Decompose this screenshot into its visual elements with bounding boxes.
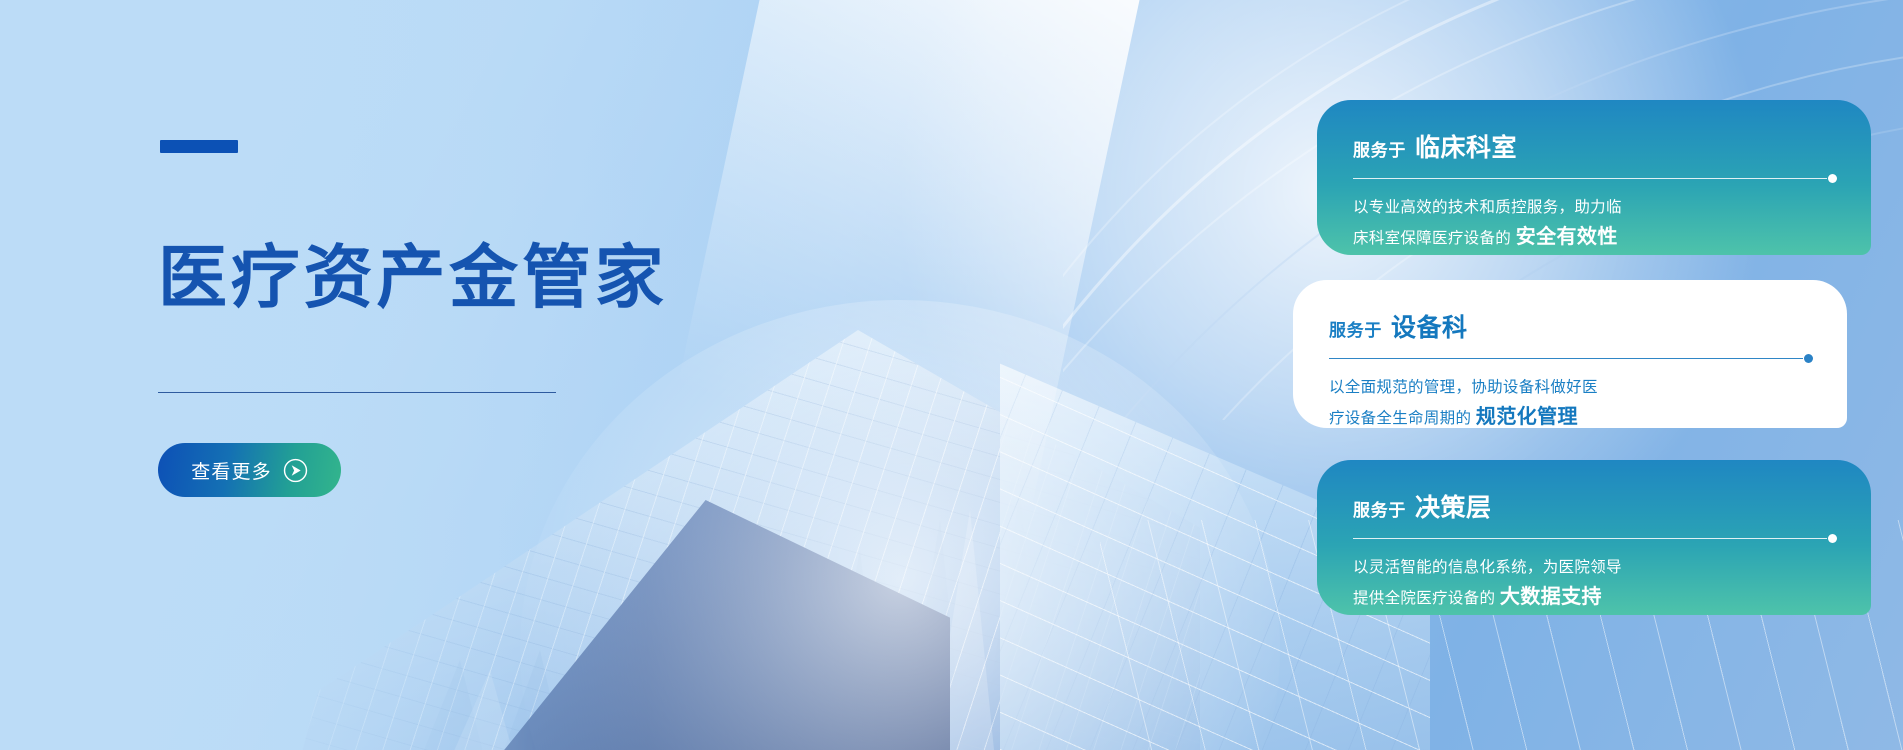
card-body-line2: 提供全院医疗设备的: [1353, 590, 1495, 607]
view-more-label: 查看更多: [191, 457, 272, 484]
hero-banner: 医疗资产金管家 查看更多 服务于 临床科室 以专业高效的技术: [0, 0, 1903, 750]
card-rule-line: [1353, 178, 1827, 179]
card-rule-line: [1353, 538, 1827, 539]
card-prefix: 服务于: [1353, 496, 1406, 521]
card-prefix: 服务于: [1329, 316, 1382, 341]
card-body-line2: 床科室保障医疗设备的: [1353, 230, 1511, 247]
card-heading: 服务于 决策层: [1353, 488, 1837, 524]
card-rule-line: [1329, 358, 1803, 359]
card-heading: 服务于 设备科: [1329, 308, 1813, 344]
card-body-strong: 规范化管理: [1476, 406, 1578, 428]
card-prefix: 服务于: [1353, 136, 1406, 161]
card-description: 以灵活智能的信息化系统，为医院领导 提供全院医疗设备的 大数据支持: [1353, 555, 1837, 615]
view-more-button[interactable]: 查看更多: [158, 443, 341, 497]
card-heading: 服务于 临床科室: [1353, 128, 1837, 164]
card-description: 以全面规范的管理，协助设备科做好医 疗设备全生命周期的 规范化管理: [1329, 375, 1813, 435]
card-keyword: 设备科: [1391, 308, 1468, 344]
page-title: 医疗资产金管家: [158, 243, 668, 312]
service-card-decision[interactable]: 服务于 决策层 以灵活智能的信息化系统，为医院领导 提供全院医疗设备的 大数据支…: [1317, 460, 1871, 615]
service-card-equipment[interactable]: 服务于 设备科 以全面规范的管理，协助设备科做好医 疗设备全生命周期的 规范化管…: [1293, 280, 1847, 428]
hero-left-content: 医疗资产金管家 查看更多: [158, 0, 798, 750]
card-body-strong: 安全有效性: [1516, 226, 1618, 248]
card-body-line2: 疗设备全生命周期的: [1329, 410, 1471, 427]
service-cards: 服务于 临床科室 以专业高效的技术和质控服务，助力临 床科室保障医疗设备的 安全…: [1283, 0, 1903, 750]
card-rule: [1329, 354, 1813, 363]
card-rule: [1353, 174, 1837, 183]
card-keyword: 决策层: [1415, 488, 1492, 524]
card-body-line1: 以专业高效的技术和质控服务，助力临: [1353, 199, 1622, 216]
service-card-clinical[interactable]: 服务于 临床科室 以专业高效的技术和质控服务，助力临 床科室保障医疗设备的 安全…: [1317, 100, 1871, 255]
accent-bar: [160, 140, 238, 153]
card-body-line1: 以灵活智能的信息化系统，为医院领导: [1353, 559, 1622, 576]
card-keyword: 临床科室: [1415, 128, 1517, 164]
card-rule-dot: [1804, 354, 1813, 363]
card-body-strong: 大数据支持: [1500, 586, 1602, 608]
arrow-right-circle-icon: [283, 458, 308, 483]
card-rule: [1353, 534, 1837, 543]
card-rule-dot: [1828, 534, 1837, 543]
card-body-line1: 以全面规范的管理，协助设备科做好医: [1329, 379, 1598, 396]
horizontal-divider: [158, 392, 556, 393]
card-description: 以专业高效的技术和质控服务，助力临 床科室保障医疗设备的 安全有效性: [1353, 195, 1837, 255]
card-rule-dot: [1828, 174, 1837, 183]
